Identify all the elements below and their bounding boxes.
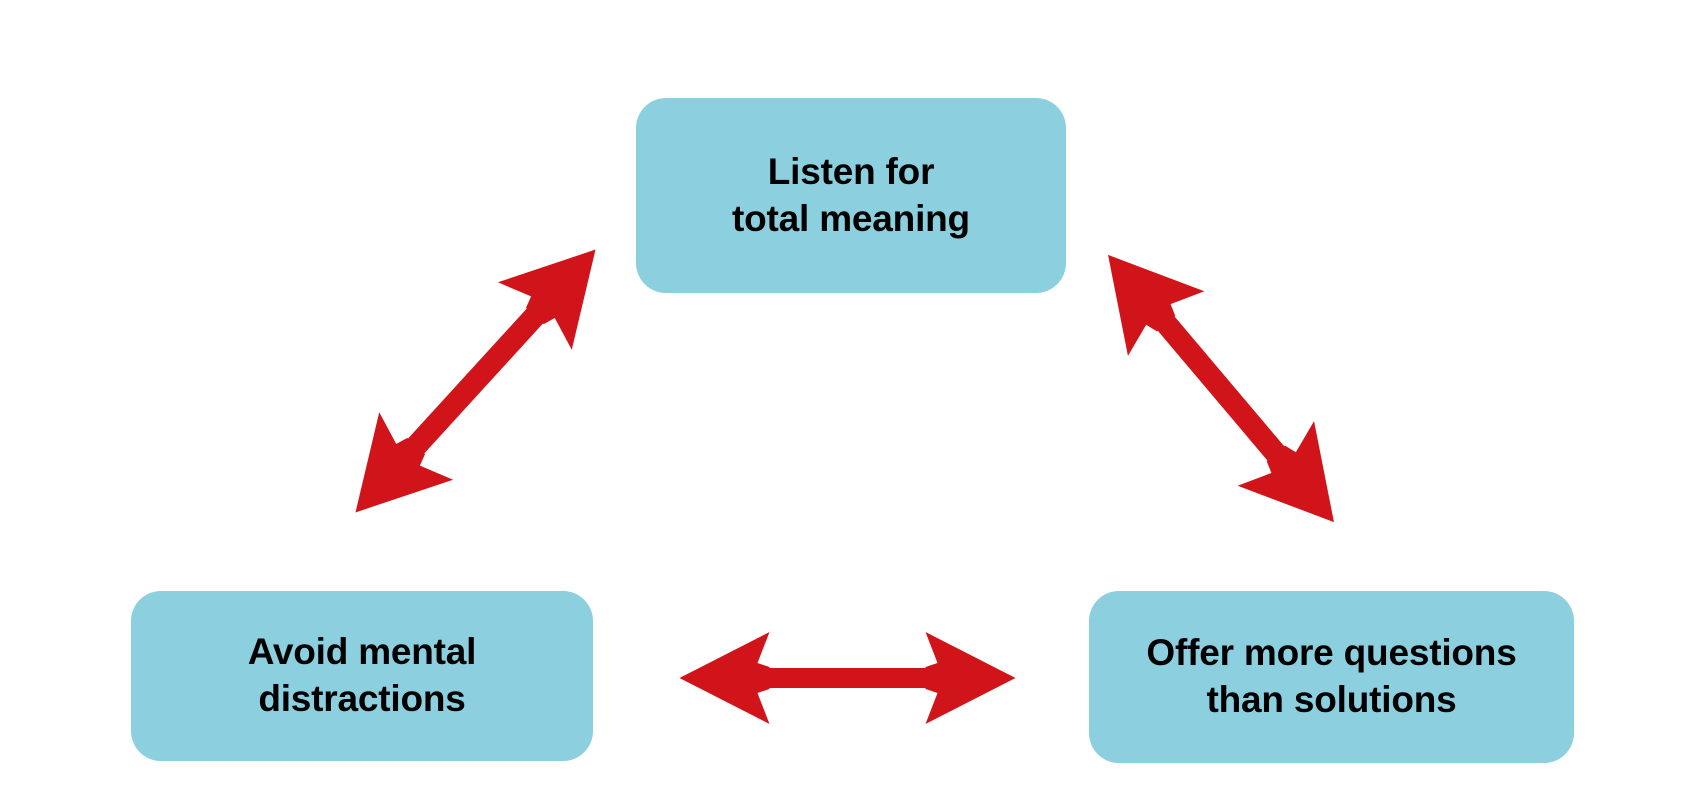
double-arrow-avoid-to-listen-icon[interactable] [319,216,633,546]
node-listen-line-2: total meaning [732,196,970,243]
node-offer-more-questions-than-solutions[interactable]: Offer more questions than solutions [1089,591,1574,763]
double-arrow-avoid-to-offer-icon[interactable] [680,632,1016,724]
node-avoid-line-1: Avoid mental [248,629,477,676]
node-listen-line-1: Listen for [768,149,935,196]
node-avoid-line-2: distractions [258,676,465,723]
double-arrow-listen-to-offer-icon[interactable] [1070,223,1372,555]
node-offer-line-1: Offer more questions [1146,630,1516,677]
node-offer-line-2: than solutions [1206,677,1456,724]
node-listen-for-total-meaning[interactable]: Listen for total meaning [636,98,1066,293]
node-avoid-mental-distractions[interactable]: Avoid mental distractions [131,591,593,761]
diagram-canvas: Listen for total meaning Avoid mental di… [0,0,1700,800]
